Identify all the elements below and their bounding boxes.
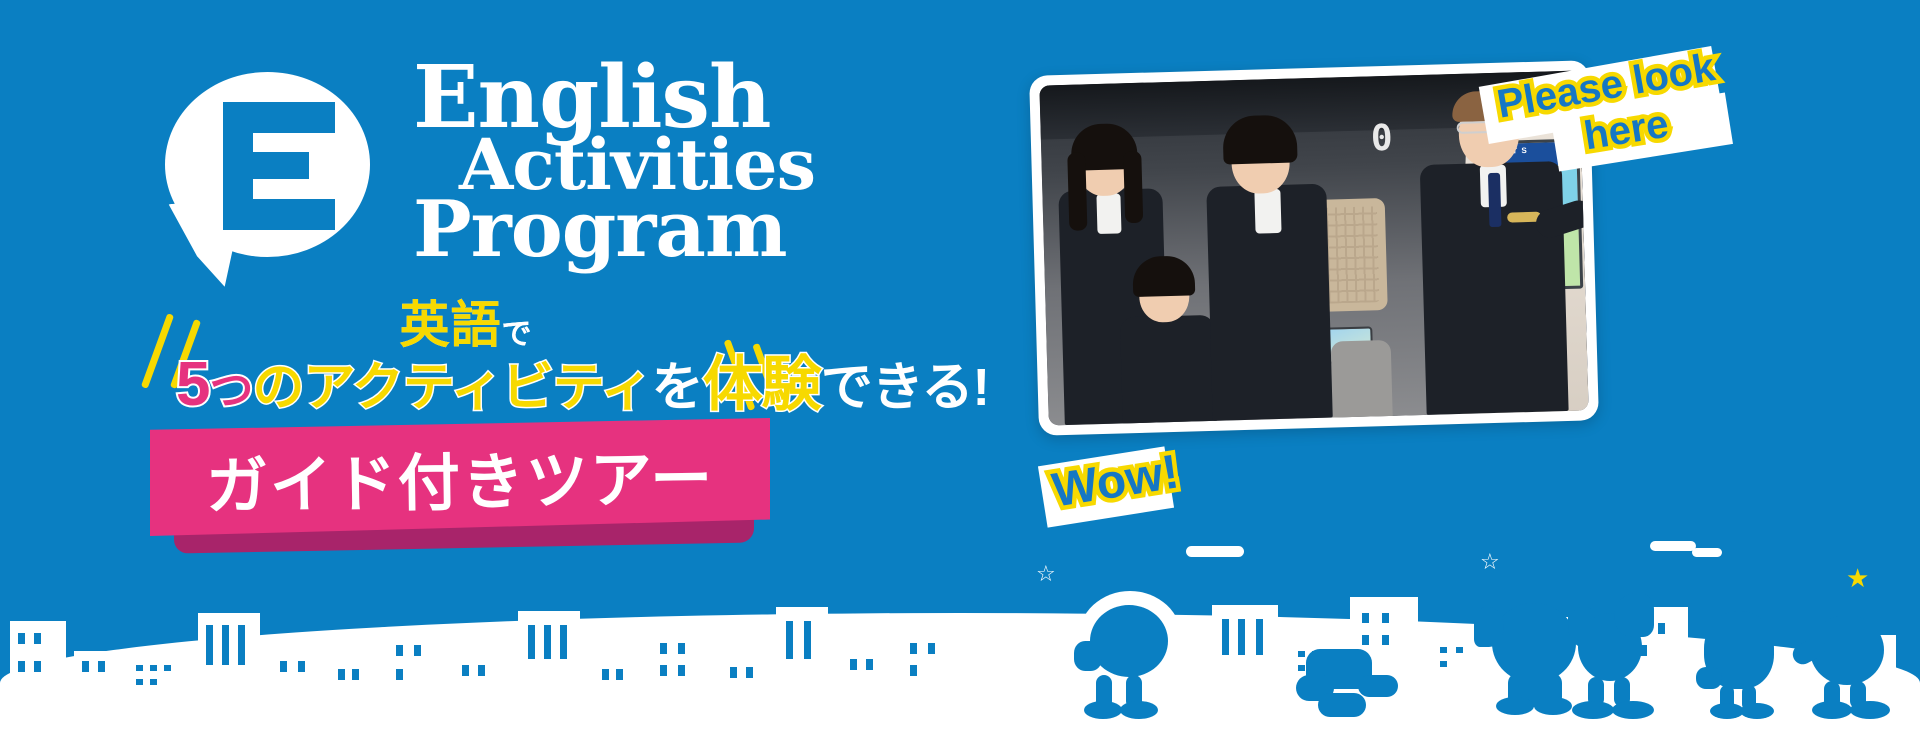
building: [842, 649, 886, 707]
building: [74, 651, 120, 713]
tagline-particle-no: の: [252, 359, 303, 417]
building: [518, 611, 580, 703]
callout-wow: Wow!: [1030, 430, 1210, 540]
building: [1212, 605, 1278, 693]
tagline-can-do: できる: [821, 359, 973, 417]
person-young-boy-pilot: [1118, 253, 1217, 424]
mascot-character: [1074, 589, 1194, 721]
building: [722, 657, 764, 711]
tagline-line-1: 英語で: [176, 300, 756, 350]
building: [270, 651, 318, 711]
tagline-particle-wo: を: [652, 359, 703, 417]
tagline-number-5: 5: [176, 350, 209, 419]
building: [776, 607, 828, 703]
logo-line-3: Program: [413, 197, 813, 263]
mascot-vehicle: [1296, 645, 1406, 721]
person-child-pilot: [1204, 112, 1332, 421]
tagline-particle-de: で: [502, 318, 533, 351]
building: [650, 631, 708, 705]
mascot-character: [1690, 595, 1796, 721]
callout-please-look-here: Please look here: [1492, 36, 1742, 156]
pilot-seat-2: [1331, 340, 1393, 426]
tagline-exclamation: !: [973, 359, 989, 417]
cockpit-number-2: 0: [1370, 117, 1403, 159]
tagline: 英語で 5つのアクティビティを体験できる!: [176, 300, 756, 416]
english-activities-program-banner: English Activities Program 英語で 5つのアクティビテ…: [0, 0, 1920, 733]
tagline-activity-word: アクティビティ: [304, 359, 652, 417]
tagline-experience-word: 体験: [703, 351, 821, 418]
ribbon-label: ガイド付きツアー: [149, 413, 771, 541]
building: [386, 633, 440, 703]
star-icon-filled: ★: [1846, 565, 1869, 591]
building: [198, 613, 260, 705]
logo-wordmark: English Activities Program: [413, 62, 813, 263]
cloud-icon: [1692, 548, 1722, 557]
cloud-icon: [1186, 546, 1244, 557]
speech-bubble-e-icon: [165, 72, 385, 282]
building: [900, 631, 956, 703]
tagline-english-word: 英語: [400, 297, 502, 353]
star-icon: ☆: [1036, 563, 1056, 585]
star-icon: ☆: [1480, 551, 1500, 573]
building: [10, 621, 66, 705]
city-silhouette: ☆ ☆ ★: [0, 533, 1920, 733]
tagline-counter-tsu: つ: [209, 366, 252, 415]
tagline-line-2: 5つのアクティビティを体験できる!: [176, 354, 756, 416]
building: [330, 661, 370, 707]
mascot-character: [1570, 591, 1680, 721]
logo-letter-e: [223, 102, 335, 230]
building: [128, 657, 188, 709]
building: [454, 657, 498, 707]
building: [594, 661, 634, 709]
cloud-icon: [1650, 541, 1696, 551]
mascot-character: [1792, 593, 1908, 721]
brand-logo: English Activities Program: [165, 62, 805, 292]
